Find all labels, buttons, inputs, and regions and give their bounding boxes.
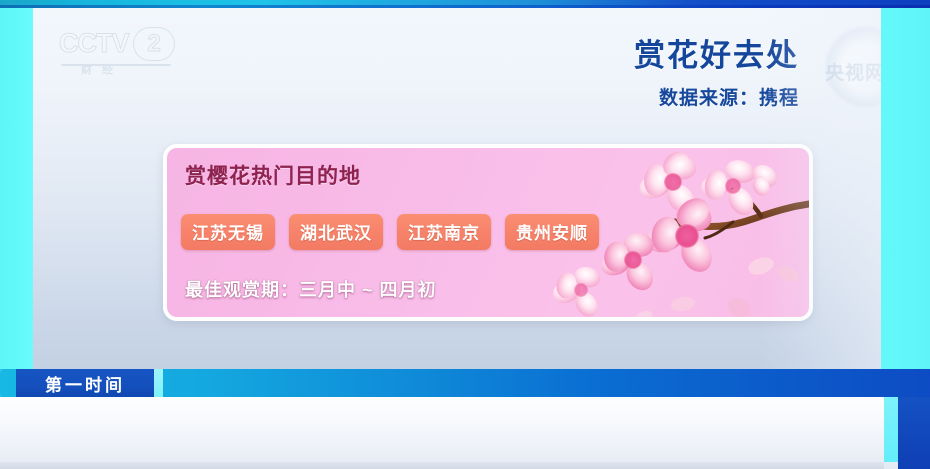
- cctv-wordmark: CCTV: [59, 30, 179, 57]
- cctv-channel-watermark-logo: CCTV 2 财经: [59, 30, 179, 88]
- cctv-channel-number: 2: [133, 27, 175, 61]
- banner-right-cyan-accent: [884, 397, 898, 462]
- destination-tag-row: 江苏无锡 湖北武汉 江苏南京 贵州安顺: [181, 214, 599, 250]
- program-name-label: 第一时间: [45, 371, 125, 396]
- destination-tag[interactable]: 江苏无锡: [181, 214, 275, 250]
- right-cyan-bar: [881, 8, 930, 369]
- destination-tag[interactable]: 湖北武汉: [289, 214, 383, 250]
- lower-third-banner: 一年一度踏青季 盘点赏花好去处: [0, 397, 930, 469]
- banner-right-blue-accent: [898, 397, 930, 469]
- cctv-channel-subtitle: 财经: [81, 61, 179, 77]
- destinations-card: 赏樱花热门目的地 江苏无锡 湖北武汉 江苏南京 贵州安顺 最佳观赏期：三月中 ~…: [163, 144, 813, 321]
- page-title: 赏花好去处: [634, 38, 799, 75]
- best-viewing-period-label: 最佳观赏期：三月中 ~ 四月初: [185, 276, 437, 302]
- graphic-stage: CCTV 2 财经 央视网 赏花好去处 数据来源：携程: [33, 8, 881, 369]
- program-tab-accent: [154, 369, 163, 397]
- banner-bottom-edge: [0, 462, 884, 469]
- circular-source-watermark: [823, 24, 881, 110]
- card-heading: 赏樱花热门目的地: [185, 160, 361, 190]
- destination-tag[interactable]: 江苏南京: [397, 214, 491, 250]
- data-source-label: 数据来源：携程: [634, 83, 799, 110]
- program-name-tab: 第一时间: [16, 369, 154, 397]
- left-cyan-bar: [0, 8, 33, 369]
- source-watermark-text: 央视网: [825, 58, 881, 85]
- destination-tag[interactable]: 贵州安顺: [505, 214, 599, 250]
- cctv-underline-rule: [61, 64, 171, 66]
- broadcast-screen: CCTV 2 财经 央视网 赏花好去处 数据来源：携程: [0, 0, 930, 469]
- headline-panel: 赏花好去处 数据来源：携程: [634, 38, 799, 110]
